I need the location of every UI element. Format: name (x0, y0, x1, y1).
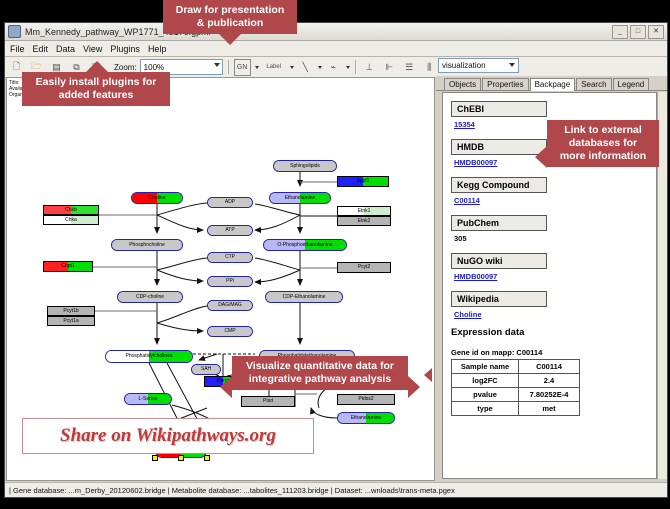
statusbar: | Gene database: ...m_Derby_20120602.bri… (5, 482, 667, 497)
zoom-label: Zoom: (114, 63, 137, 72)
metabolite-node[interactable]: SAH (191, 364, 221, 375)
node-label: Pcyt1a (63, 319, 78, 324)
gene-node[interactable]: Sgpl1 (337, 176, 389, 187)
tab-backpage[interactable]: Backpage (530, 78, 576, 91)
metabolite-node[interactable]: O-Phosphoethanolamine (263, 239, 347, 251)
expression-value: met (519, 402, 580, 416)
gene-node[interactable]: Chka (43, 215, 99, 225)
callout-arrow-left (535, 146, 547, 168)
gene-node[interactable]: Etnk1 (337, 206, 391, 216)
callout-line: added features (30, 89, 162, 102)
metabolite-node[interactable]: CDP-choline (117, 291, 183, 303)
table-row: Sample nameC00114 (452, 360, 580, 374)
align-left-icon[interactable]: ⊩ (381, 59, 398, 76)
gene-node[interactable]: Pcyt1a (47, 316, 95, 326)
node-label: Phosphocholine (129, 243, 165, 248)
metabolite-node[interactable]: Phosphocholine (111, 239, 183, 251)
expression-value: C00114 (519, 360, 580, 374)
minimize-button[interactable]: _ (612, 25, 628, 39)
table-row: log2FC2.4 (452, 374, 580, 388)
database-header: HMDB (451, 139, 547, 155)
node-label: SAH (201, 367, 211, 372)
menu-item-plugins[interactable]: Plugins (110, 44, 140, 54)
metabolite-node[interactable]: PPi (207, 276, 253, 287)
resize-grip-icon[interactable] (655, 484, 667, 496)
label-icon[interactable]: Label (262, 59, 286, 76)
callout-arrow-left-2 (220, 376, 232, 398)
node-label: Pcyt2 (358, 265, 371, 270)
node-label: CMP (224, 329, 235, 334)
statusbar-text: | Gene database: ...m_Derby_20120602.bri… (5, 486, 455, 495)
menu-item-file[interactable]: File (10, 44, 25, 54)
database-header: NuGO wiki (451, 253, 547, 269)
zoom-value: 100% (144, 63, 164, 72)
expression-value: 7.80252E-4 (519, 388, 580, 402)
expression-value: 2.4 (519, 374, 580, 388)
menubar: File Edit Data View Plugins Help (5, 41, 667, 57)
callout-line: integrative pathway analysis (240, 373, 400, 386)
database-value: 305 (454, 234, 648, 243)
callout-line: Easily install plugins for (30, 76, 162, 89)
callout-share-wikipathways: Share on Wikipathways.org (22, 418, 314, 454)
datanode-dropdown-icon[interactable] (255, 66, 259, 69)
metabolite-node[interactable]: DAG/MAG (207, 300, 253, 311)
menu-item-edit[interactable]: Edit (33, 44, 49, 54)
expression-table: Sample nameC00114log2FC2.4pvalue7.80252E… (451, 359, 580, 416)
chevron-down-icon (214, 63, 220, 67)
database-link[interactable]: HMDB00097 (454, 272, 648, 281)
tab-properties[interactable]: Properties (482, 78, 528, 90)
node-label: Etnk1 (358, 209, 371, 214)
metabolite-node[interactable]: ATP (207, 225, 253, 236)
node-label: Sgpl1 (357, 179, 370, 184)
visualization-select[interactable]: visualization (438, 58, 519, 73)
visualization-value: visualization (442, 61, 486, 70)
database-header: PubChem (451, 215, 547, 231)
callout-external-links: Link to external databases for more info… (547, 120, 659, 167)
metabolite-node[interactable]: Choline (131, 192, 183, 204)
line-icon[interactable]: ╲ (297, 59, 314, 76)
metabolite-node[interactable]: Ethanolamine (337, 412, 395, 424)
callout-visualize-data: Visualize quantitative data for integrat… (232, 356, 408, 390)
shape-dropdown-icon[interactable] (346, 66, 350, 69)
gene-node[interactable]: Chkb (43, 205, 99, 215)
callout-draw-presentation: Draw for presentation & publication (163, 0, 297, 34)
side-panel-tabs: Objects Properties Backpage Search Legen… (436, 76, 667, 91)
node-label: CDP-Ethanolamine (283, 295, 326, 300)
gene-node[interactable]: Etnk2 (337, 216, 391, 226)
node-label: Pcyt1b (63, 309, 78, 314)
gene-node[interactable]: Ptdss2 (337, 394, 395, 405)
callout-install-plugins: Easily install plugins for added feature… (22, 72, 170, 106)
node-label: Ethanolamine (351, 416, 382, 421)
toolbar-separator-2 (355, 60, 356, 74)
menu-item-data[interactable]: Data (56, 44, 75, 54)
table-row: pvalue7.80252E-4 (452, 388, 580, 402)
app-logo-icon (8, 25, 21, 38)
metabolite-node[interactable]: Sphingolipids (273, 160, 337, 172)
metabolite-node[interactable]: Ethanolamine (269, 192, 331, 204)
database-link[interactable]: C00114 (454, 196, 648, 205)
metabolite-node[interactable]: L-Serine (124, 393, 172, 405)
label-dropdown-icon[interactable] (290, 66, 294, 69)
metabolite-node[interactable]: Phosphatidylcholines (105, 350, 193, 363)
callout-line: & publication (171, 17, 289, 30)
selection-handle[interactable] (178, 455, 184, 461)
tab-legend[interactable]: Legend (613, 78, 650, 90)
node-label: Chkb (65, 208, 77, 213)
window-titlebar: Mm_Kennedy_pathway_WP1771_45176.gpml _ □… (5, 23, 667, 41)
datanode-icon[interactable]: GN (234, 59, 251, 76)
node-label: O-Phosphoethanolamine (277, 243, 332, 248)
metabolite-node[interactable]: ADP (207, 197, 253, 208)
tab-objects[interactable]: Objects (444, 78, 481, 90)
stack-icon[interactable]: ☰ (401, 59, 418, 76)
node-label: L-Serine (139, 397, 158, 402)
node-label: Pisd (263, 399, 273, 404)
node-label: CTP (225, 255, 235, 260)
gene-node[interactable]: Pcyt1b (47, 306, 95, 316)
database-header: ChEBI (451, 101, 547, 117)
expression-key: log2FC (452, 374, 519, 388)
gene-id-label: Gene id on mapp: C00114 (451, 348, 648, 357)
maximize-button[interactable]: □ (630, 25, 646, 39)
node-label: Chka (65, 218, 77, 223)
metabolite-node[interactable]: CMP (207, 326, 253, 337)
node-label: CDP-choline (136, 295, 164, 300)
callout-line: Draw for presentation (171, 4, 289, 17)
chevron-down-icon (509, 63, 515, 67)
line-dropdown-icon[interactable] (318, 66, 322, 69)
node-label: Choline (149, 196, 166, 201)
gene-node[interactable]: Pisd (241, 396, 295, 407)
shape-icon[interactable]: ⌁ (325, 59, 342, 76)
callout-arrow-right (408, 376, 420, 398)
node-label: DAG/MAG (218, 303, 242, 308)
callout-line: Link to external (555, 124, 651, 137)
selection-handle[interactable] (152, 455, 158, 461)
node-label: ADP (225, 200, 235, 205)
callout-arrow-up (86, 61, 108, 72)
node-label: Ethanolamine (285, 196, 316, 201)
share-text: Share on Wikipathways.org (60, 425, 276, 447)
menu-item-view[interactable]: View (83, 44, 102, 54)
gene-node[interactable]: Pcyt2 (337, 262, 391, 273)
callout-line: more information (555, 150, 651, 163)
expression-key: pvalue (452, 388, 519, 402)
node-label: Etnk2 (358, 219, 371, 224)
database-header: Kegg Compound (451, 177, 547, 193)
app-root: Mm_Kennedy_pathway_WP1771_45176.gpml _ □… (0, 0, 670, 509)
close-button[interactable]: ✕ (648, 25, 664, 39)
node-label: PPi (226, 279, 234, 284)
node-label: ATP (225, 228, 234, 233)
expression-key: type (452, 402, 519, 416)
table-row: typemet (452, 402, 580, 416)
callout-line: Visualize quantitative data for (240, 360, 400, 373)
callout-arrow-down (219, 34, 241, 45)
node-label: Phosphatidylcholines (126, 354, 173, 359)
selection-handle[interactable] (204, 455, 210, 461)
node-label: Sphingolipids (290, 164, 320, 169)
database-link[interactable]: Choline (454, 310, 648, 319)
node-label: Ptdss2 (358, 397, 373, 402)
align-bottom-icon[interactable]: ⊥ (361, 59, 378, 76)
menu-item-help[interactable]: Help (148, 44, 167, 54)
visualization-bar: visualization (436, 57, 667, 75)
metabolite-node[interactable]: CTP (207, 252, 253, 263)
callout-line: databases for (555, 137, 651, 150)
metabolite-node[interactable]: CDP-Ethanolamine (265, 291, 343, 303)
callout-arrow-left-expression (424, 368, 432, 382)
window-controls: _ □ ✕ (612, 25, 664, 39)
node-label: Chpt1 (61, 264, 74, 269)
database-header: Wikipedia (451, 291, 547, 307)
tab-search[interactable]: Search (576, 78, 611, 90)
gene-node[interactable]: Chpt1 (43, 261, 93, 272)
expression-key: Sample name (452, 360, 519, 374)
expression-data-header: Expression data (451, 327, 648, 338)
toolbar-separator (228, 60, 229, 74)
